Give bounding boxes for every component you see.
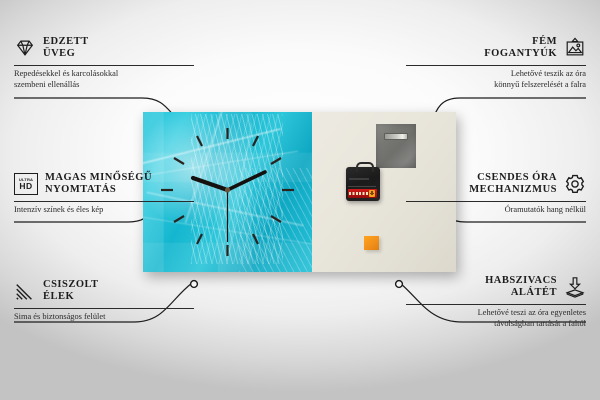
callout-subtitle: Lehetővé teszi az óra egyenletes távolsá… xyxy=(406,308,586,330)
callout-title: MAGAS MINŐSÉGŰ NYOMTATÁS xyxy=(45,172,152,197)
mechanism-hook xyxy=(356,162,374,172)
metal-hanger xyxy=(376,124,416,168)
hour-mark-1 xyxy=(253,136,258,146)
callout-tempered-glass: EDZETT ÜVEG Repedésekkel és karcolásokka… xyxy=(14,36,194,90)
battery-label xyxy=(349,192,369,195)
polished-edge-icon xyxy=(14,280,36,302)
hour-mark-10 xyxy=(174,158,184,164)
battery-plus-terminal xyxy=(369,190,375,197)
infographic-stage: EDZETT ÜVEG Repedésekkel és karcolásokka… xyxy=(0,0,600,400)
callout-subtitle: Óramutatók hang nélkül xyxy=(406,205,586,216)
foam-pad xyxy=(364,236,379,250)
callout-polished-edges: CSISZOLT ÉLEK Sima és biztonságos felüle… xyxy=(14,279,194,323)
callout-silent-mechanism: CSENDES ÓRA MECHANIZMUS Óramutatók hang … xyxy=(406,172,586,216)
callout-header: ultra HD MAGAS MINŐSÉGŰ NYOMTATÁS xyxy=(14,172,194,197)
clock-hour-hand xyxy=(193,178,228,190)
clock-hub xyxy=(225,187,230,192)
battery xyxy=(348,189,377,198)
callout-divider xyxy=(14,308,194,309)
callout-header: CSISZOLT ÉLEK xyxy=(14,279,194,304)
callout-divider xyxy=(14,201,194,202)
hour-mark-2 xyxy=(271,158,281,164)
callout-subtitle: Sima és biztonságos felület xyxy=(14,312,194,323)
callout-hq-print: ultra HD MAGAS MINŐSÉGŰ NYOMTATÁS Intenz… xyxy=(14,172,194,216)
hour-mark-7 xyxy=(197,234,202,244)
callout-title: EDZETT ÜVEG xyxy=(43,36,89,61)
callout-metal-handles: FÉM FOGANTYÚK Lehetővé teszik az óra kön… xyxy=(406,36,586,90)
diamond-icon xyxy=(14,37,36,59)
callout-subtitle: Lehetővé teszik az óra könnyű felszerelé… xyxy=(406,69,586,91)
hour-mark-8 xyxy=(174,216,184,222)
hour-mark-4 xyxy=(271,216,281,222)
callout-title: HABSZIVACS ALÁTÉT xyxy=(485,275,557,300)
hour-mark-11 xyxy=(197,136,202,146)
callout-foam-pad: HABSZIVACS ALÁTÉT Lehetővé teszi az óra … xyxy=(406,275,586,329)
mechanism-seam xyxy=(349,178,369,180)
callout-divider xyxy=(406,65,586,66)
callout-title: CSISZOLT ÉLEK xyxy=(43,279,99,304)
hanger-slot xyxy=(384,133,408,140)
callout-title: FÉM FOGANTYÚK xyxy=(484,36,557,61)
ultra-hd-main-text: HD xyxy=(19,182,32,191)
callout-header: CSENDES ÓRA MECHANIZMUS xyxy=(406,172,586,197)
ultra-hd-icon: ultra HD xyxy=(14,173,38,195)
picture-frame-icon xyxy=(564,37,586,59)
callout-subtitle: Intenzív színek és éles kép xyxy=(14,205,194,216)
callout-divider xyxy=(14,65,194,66)
clock-minute-hand xyxy=(228,172,266,190)
callout-header: FÉM FOGANTYÚK xyxy=(406,36,586,61)
callout-header: HABSZIVACS ALÁTÉT xyxy=(406,275,586,300)
callout-header: EDZETT ÜVEG xyxy=(14,36,194,61)
callout-subtitle: Repedésekkel és karcolásokkal szembeni e… xyxy=(14,69,194,91)
hour-mark-5 xyxy=(253,234,258,244)
callout-title: CSENDES ÓRA MECHANIZMUS xyxy=(469,172,557,197)
wire-dot-foam xyxy=(396,281,403,288)
foam-pad-icon xyxy=(564,276,586,298)
callout-divider xyxy=(406,304,586,305)
gear-icon xyxy=(564,173,586,195)
quartz-mechanism xyxy=(346,167,380,201)
callout-divider xyxy=(406,201,586,202)
mechanism-seam xyxy=(348,186,376,187)
